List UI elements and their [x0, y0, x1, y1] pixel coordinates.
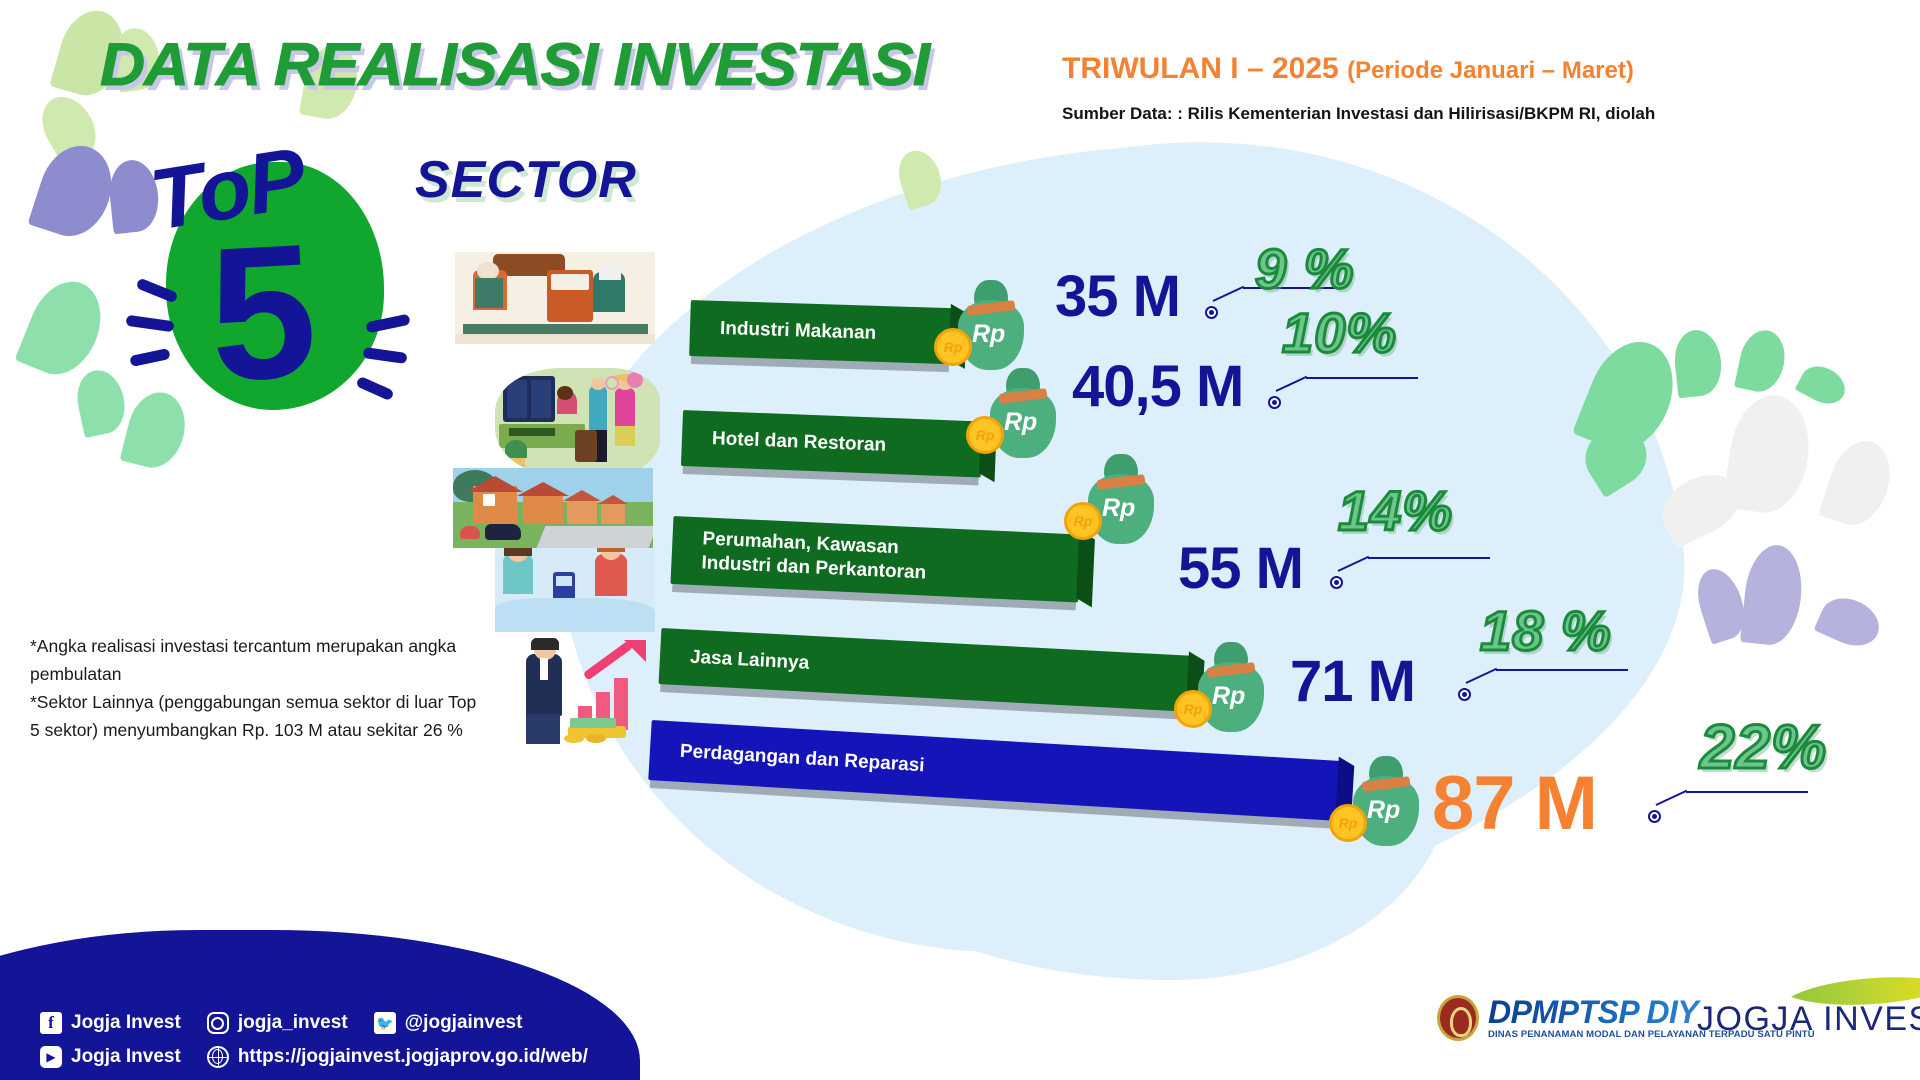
coin-icon: Rp	[1064, 502, 1102, 540]
illustration-jasa-lainnya	[495, 548, 655, 632]
leader-line	[1268, 376, 1458, 436]
bar-percent-hotel-restoran: 10%	[1282, 300, 1397, 365]
top5-tick	[129, 348, 170, 367]
leader-line	[1648, 790, 1858, 850]
illustration-hotel-restoran	[495, 368, 660, 478]
leaf-decoration	[1795, 359, 1852, 411]
facebook-icon: f	[40, 1012, 62, 1034]
leaf-decoration	[27, 136, 122, 245]
bar-value-industri-makanan: 35 M	[1055, 263, 1180, 330]
bag-rp-label: Rp	[1004, 408, 1037, 437]
leader-dot	[1458, 688, 1471, 701]
footnote: *Angka realisasi investasi tercantum mer…	[30, 632, 485, 744]
money-bag-icon: Rp Rp	[1190, 640, 1272, 732]
money-bag-icon: Rp Rp	[1080, 452, 1162, 544]
youtube-icon: ▶	[40, 1046, 62, 1068]
coin-rp-label: Rp	[1339, 815, 1358, 831]
money-bag-icon: Rp Rp	[950, 278, 1032, 370]
social-row-1: f Jogja Invest jogja_invest 🐦 @jogjainve…	[40, 1012, 522, 1034]
leader-dot	[1648, 810, 1661, 823]
top5-tick	[355, 376, 394, 402]
instagram-icon	[207, 1012, 229, 1034]
leader-segment	[1686, 791, 1808, 793]
page-title: DATA REALISASI INVESTASI	[100, 30, 929, 99]
leader-line	[1458, 668, 1668, 728]
top5-tick	[362, 347, 407, 364]
bar-value-jasa-lainnya: 71 M	[1290, 648, 1415, 715]
leader-segment	[1213, 286, 1245, 302]
coin-rp-label: Rp	[1184, 701, 1203, 717]
bar-percent-industri-makanan: 9 %	[1255, 236, 1355, 301]
bar-hotel-restoran[interactable]: Hotel dan Restoran	[681, 410, 983, 477]
coin-icon: Rp	[934, 328, 972, 366]
leaf-decoration	[14, 271, 113, 385]
bar-label: Industri Makanan	[690, 316, 877, 346]
illustration-industri-makanan	[455, 252, 655, 344]
page-subtitle: SECTOR	[415, 150, 637, 210]
twitter-icon: 🐦	[374, 1012, 396, 1034]
leaf-decoration	[1818, 433, 1900, 533]
bar-label: Perdagangan dan Reparasi	[649, 738, 925, 778]
footnote-line-1: *Angka realisasi investasi tercantum mer…	[30, 632, 485, 688]
bag-rp-label: Rp	[972, 320, 1005, 349]
social-instagram-label: jogja_invest	[238, 1012, 348, 1034]
bar-percent-perumahan-kawasan: 14%	[1338, 478, 1453, 543]
leaf-decoration	[1740, 542, 1806, 647]
period-parenthetical: (Periode Januari – Maret)	[1347, 57, 1634, 84]
bag-rp-label: Rp	[1212, 682, 1245, 711]
leaf-decoration	[1672, 328, 1725, 398]
social-youtube[interactable]: ▶ Jogja Invest	[40, 1046, 181, 1068]
bag-rp-label: Rp	[1367, 796, 1400, 825]
bar-value-hotel-restoran: 40,5 M	[1072, 353, 1243, 420]
social-row-2: ▶ Jogja Invest https://jogjainvest.jogja…	[40, 1046, 588, 1068]
bar-label: Perumahan, Kawasan Industri dan Perkanto…	[671, 526, 928, 586]
bag-rp-label: Rp	[1102, 494, 1135, 523]
social-website[interactable]: https://jogjainvest.jogjaprov.go.id/web/	[207, 1046, 588, 1068]
period-text: TRIWULAN I – 2025	[1062, 52, 1339, 85]
coin-icon: Rp	[1174, 690, 1212, 728]
coin-rp-label: Rp	[1074, 513, 1093, 529]
coin-rp-label: Rp	[944, 339, 963, 355]
social-youtube-label: Jogja Invest	[71, 1046, 181, 1068]
diy-seal-icon	[1437, 995, 1479, 1041]
infographic-canvas: DATA REALISASI INVESTASI SECTOR TRIWULAN…	[0, 0, 1920, 1080]
bar-label: Jasa Lainnya	[659, 644, 809, 676]
period-label: TRIWULAN I – 2025 (Periode Januari – Mar…	[1062, 52, 1634, 86]
leaf-decoration	[1734, 326, 1790, 396]
top5-tick	[125, 315, 174, 333]
leader-segment	[1656, 790, 1688, 806]
coin-rp-label: Rp	[976, 427, 995, 443]
globe-icon	[207, 1046, 229, 1068]
top5-number: 5	[205, 215, 320, 410]
social-twitter[interactable]: 🐦 @jogjainvest	[374, 1012, 523, 1034]
leaf-decoration	[1814, 590, 1887, 655]
social-website-label: https://jogjainvest.jogjaprov.go.id/web/	[238, 1046, 588, 1068]
leader-segment	[1496, 669, 1628, 671]
social-facebook-label: Jogja Invest	[71, 1012, 181, 1034]
social-twitter-label: @jogjainvest	[405, 1012, 523, 1034]
social-facebook[interactable]: f Jogja Invest	[40, 1012, 181, 1034]
leaf-decoration	[72, 366, 130, 438]
bar-industri-makanan[interactable]: Industri Makanan	[689, 300, 953, 364]
leader-segment	[1466, 668, 1498, 684]
footnote-line-2: *Sektor Lainnya (penggabungan semua sekt…	[30, 688, 485, 744]
money-bag-icon: Rp Rp	[1345, 754, 1427, 846]
money-bag-icon: Rp Rp	[982, 366, 1064, 458]
social-instagram[interactable]: jogja_invest	[207, 1012, 348, 1034]
bar-percent-jasa-lainnya: 18 %	[1480, 598, 1612, 663]
leader-dot	[1330, 576, 1343, 589]
logo-jogja-invest: JOGJA INVEST	[1697, 1000, 1920, 1039]
coin-icon: Rp	[966, 416, 1004, 454]
top5-badge: ToP 5	[128, 140, 408, 430]
bar-percent-perdagangan-reparasi: 22%	[1700, 712, 1827, 783]
leader-dot	[1268, 396, 1281, 409]
leader-segment	[1306, 377, 1418, 379]
coin-icon: Rp	[1329, 804, 1367, 842]
bar-value-perdagangan-reparasi: 87 M	[1432, 760, 1597, 847]
leader-segment	[1276, 376, 1308, 392]
illustration-perumahan	[453, 468, 653, 548]
leader-segment	[1368, 557, 1490, 559]
source-label: Sumber Data: : Rilis Kementerian Investa…	[1062, 104, 1655, 124]
leader-segment	[1338, 556, 1370, 572]
leader-dot	[1205, 306, 1218, 319]
bar-value-perumahan-kawasan: 55 M	[1178, 535, 1303, 602]
jogja-invest-label: JOGJA INVEST	[1697, 1000, 1920, 1039]
bar-label: Hotel dan Restoran	[682, 426, 887, 458]
